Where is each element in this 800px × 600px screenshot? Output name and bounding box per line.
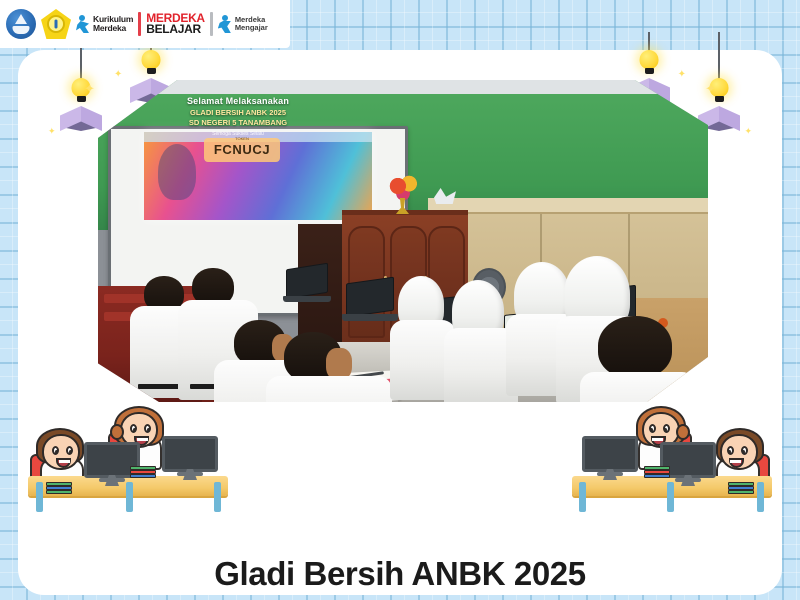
hair-tuft <box>110 424 124 440</box>
merdeka-belajar-line-2: BELAJAR <box>146 24 205 35</box>
wall-trim <box>428 198 708 214</box>
sparkle-icon: ✦ <box>48 126 56 136</box>
eye <box>130 424 137 433</box>
merdeka-belajar-logo: MERDEKA BELAJAR <box>146 13 205 35</box>
desk-leg <box>126 482 133 512</box>
sparkle-icon: ✦ <box>678 70 686 80</box>
hair-tuft <box>676 424 690 440</box>
eye <box>649 424 656 433</box>
kemendikbud-pentagon-logo <box>41 9 71 39</box>
sparkle-icon: ✦ <box>84 84 95 94</box>
ministry-logo-bar: Kurikulum Merdeka MERDEKA BELAJAR Merdek… <box>0 0 290 48</box>
desk-leg <box>579 482 586 512</box>
slide-token-value: FCNUCJ <box>204 142 280 157</box>
book-stack <box>46 482 72 494</box>
slide-line-2: GLADI BERSIH ANBK 2025 <box>158 108 318 117</box>
kurikulum-merdeka-line-2: Merdeka <box>93 24 133 33</box>
divider <box>138 12 141 36</box>
monitor-icon <box>582 436 638 472</box>
book-stack <box>644 466 670 478</box>
monitor-stand <box>99 478 125 482</box>
sparkle-icon: ✦ <box>114 70 122 80</box>
bulb-wire <box>718 32 720 80</box>
slide-token-label: TOKEN <box>204 136 280 141</box>
eye <box>144 424 151 433</box>
monitor-stand <box>597 472 623 476</box>
eye <box>663 424 670 433</box>
page-title: Gladi Bersih ANBK 2025 <box>18 555 782 593</box>
slide-figure <box>158 144 196 200</box>
eye <box>741 446 748 455</box>
monitor-stand <box>675 478 701 482</box>
desk-leg <box>757 482 764 512</box>
tut-wuri-handayani-logo <box>6 9 36 39</box>
slide-line-1: Selamat Melaksanakan <box>158 96 318 106</box>
desk-leg <box>36 482 43 512</box>
classroom-photo: Selamat Melaksanakan GLADI BERSIH ANBK 2… <box>98 80 708 402</box>
bulb-wire <box>648 32 650 52</box>
desk-leg <box>214 482 221 512</box>
slide-line-3: SD NEGERI 5 TANAMBANG <box>158 118 318 127</box>
book-stack <box>130 466 156 478</box>
light-bulb-icon <box>142 50 161 69</box>
teacher-figure-icon <box>218 15 232 33</box>
ceiling-edge <box>98 80 708 94</box>
book-stack <box>728 482 754 494</box>
monitor-icon <box>162 436 218 472</box>
kurikulum-merdeka-logo: Kurikulum Merdeka <box>76 15 133 33</box>
sparkle-icon: ✦ <box>705 84 716 94</box>
open-book-icon <box>60 106 102 131</box>
divider <box>210 12 213 36</box>
children-at-computers-illustration-right <box>563 404 778 512</box>
runner-icon <box>76 15 90 33</box>
sparkle-icon: ✦ <box>744 126 752 136</box>
eye <box>66 446 73 455</box>
desk-leg <box>667 482 674 512</box>
eye <box>52 446 59 455</box>
children-at-computers-illustration-left <box>22 404 237 512</box>
monitor-stand <box>177 472 203 476</box>
merdeka-mengajar-line-2: Mengajar <box>235 24 268 33</box>
light-bulb-icon <box>640 50 659 69</box>
merdeka-mengajar-logo: Merdeka Mengajar <box>218 15 268 33</box>
eye <box>727 446 734 455</box>
